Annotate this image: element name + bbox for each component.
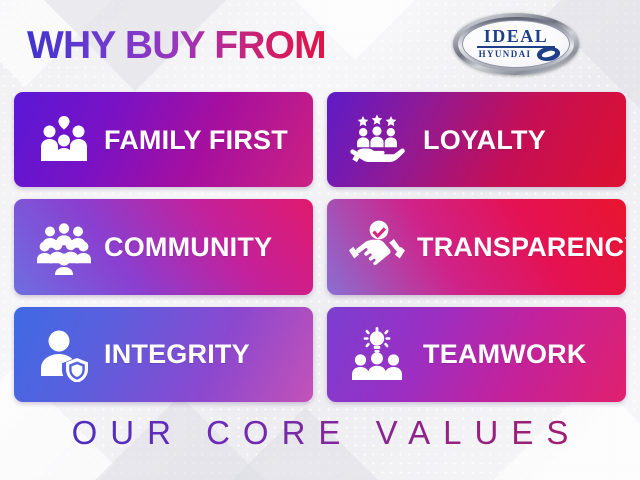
slide-canvas: WHY BUY FROM IDEAL HYUNDAI xyxy=(0,0,640,480)
value-card-label: INTEGRITY xyxy=(104,339,250,369)
value-card-transparency[interactable]: TRANSPARENCY xyxy=(327,199,626,294)
value-card-loyalty[interactable]: LOYALTY xyxy=(327,92,626,187)
value-card-label: TEAMWORK xyxy=(423,339,587,369)
footer: OUR CORE VALUES xyxy=(0,414,640,452)
value-card-community[interactable]: COMMUNITY xyxy=(14,199,313,294)
page-title: WHY BUY FROM xyxy=(27,24,326,68)
lightbulb-team-icon xyxy=(349,326,405,382)
hyundai-h-emblem-icon xyxy=(536,47,562,61)
ideal-hyundai-logo: IDEAL HYUNDAI xyxy=(453,13,579,75)
value-card-teamwork[interactable]: TEAMWORK xyxy=(327,307,626,402)
person-shield-icon xyxy=(36,326,92,382)
value-card-label: COMMUNITY xyxy=(104,232,272,262)
family-heart-icon xyxy=(36,112,92,168)
footer-tagline: OUR CORE VALUES xyxy=(59,414,582,452)
header: WHY BUY FROM IDEAL HYUNDAI xyxy=(0,0,640,88)
value-card-label: FAMILY FIRST xyxy=(104,125,288,155)
logo-sub-text: HYUNDAI xyxy=(467,49,543,60)
value-card-integrity[interactable]: INTEGRITY xyxy=(14,307,313,402)
logo-brand-text: IDEAL xyxy=(463,27,569,45)
handshake-check-icon xyxy=(349,219,405,275)
hand-holding-people-stars-icon xyxy=(349,112,405,168)
value-card-label: TRANSPARENCY xyxy=(417,232,626,262)
people-crowd-icon xyxy=(36,219,92,275)
value-card-label: LOYALTY xyxy=(423,125,546,155)
core-values-grid: FAMILY FIRST LOYALTY xyxy=(14,92,626,402)
logo-inner-face: IDEAL HYUNDAI xyxy=(462,20,570,68)
value-card-family-first[interactable]: FAMILY FIRST xyxy=(14,92,313,187)
